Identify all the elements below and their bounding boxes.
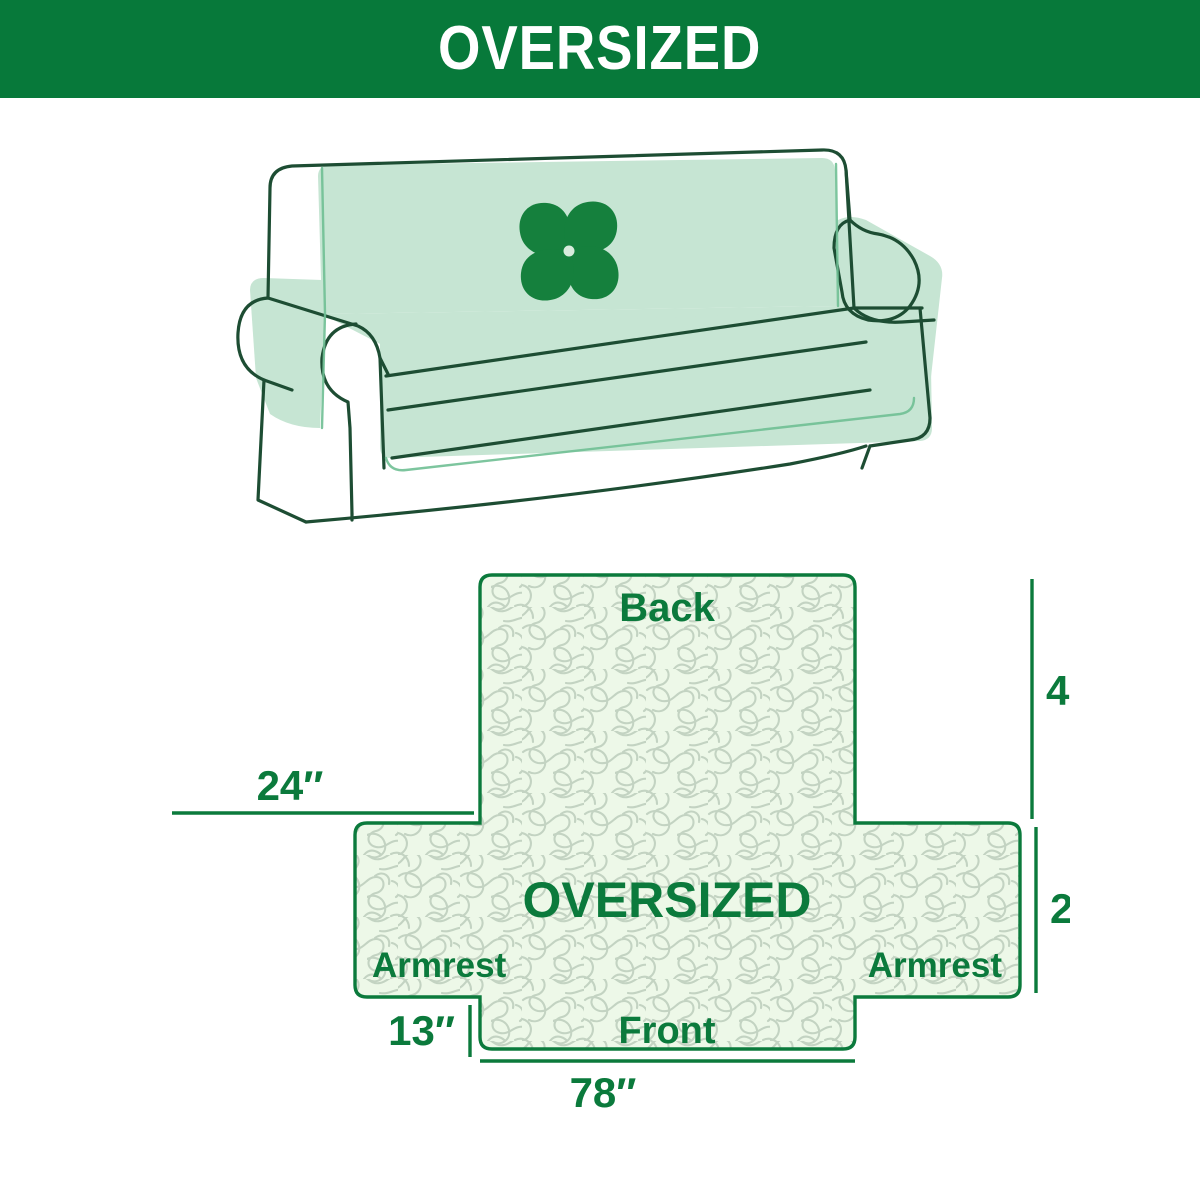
dim-label-total-width: 78″: [570, 1069, 637, 1116]
cover-shape: [150, 545, 1070, 1125]
pinwheel-fan-logo: [519, 201, 618, 300]
sofa-illustration: [230, 128, 990, 528]
label-front: Front: [618, 1010, 715, 1052]
page-title: OVERSIZED: [438, 18, 761, 80]
dim-label-armrest-height: 23″: [1050, 885, 1070, 932]
sofa-left-arm-front-roll: [322, 324, 356, 514]
label-armrest-left: Armrest: [372, 946, 507, 985]
label-oversized: OVERSIZED: [523, 872, 812, 928]
diagram-drawing: Back OVERSIZED Armrest Armrest Front 40″…: [150, 545, 1070, 1125]
label-armrest-right: Armrest: [868, 946, 1003, 985]
size-chart-page: OVERSIZED: [0, 0, 1200, 1200]
dim-label-back-height: 40″: [1046, 667, 1070, 714]
sofa-right-side-panel: [862, 446, 870, 468]
sofa-back-right-edge: [846, 170, 850, 220]
dim-label-armrest-width: 24″: [257, 762, 324, 809]
header-banner: OVERSIZED: [0, 0, 1200, 98]
cover-seat-front: [380, 308, 932, 458]
pinwheel-hub: [564, 246, 575, 257]
dim-label-front-drop: 13″: [388, 1007, 455, 1054]
cover-dimension-diagram: Back OVERSIZED Armrest Armrest Front 40″…: [150, 545, 1070, 1125]
label-back: Back: [619, 586, 715, 630]
sofa-drawing: [230, 128, 990, 528]
